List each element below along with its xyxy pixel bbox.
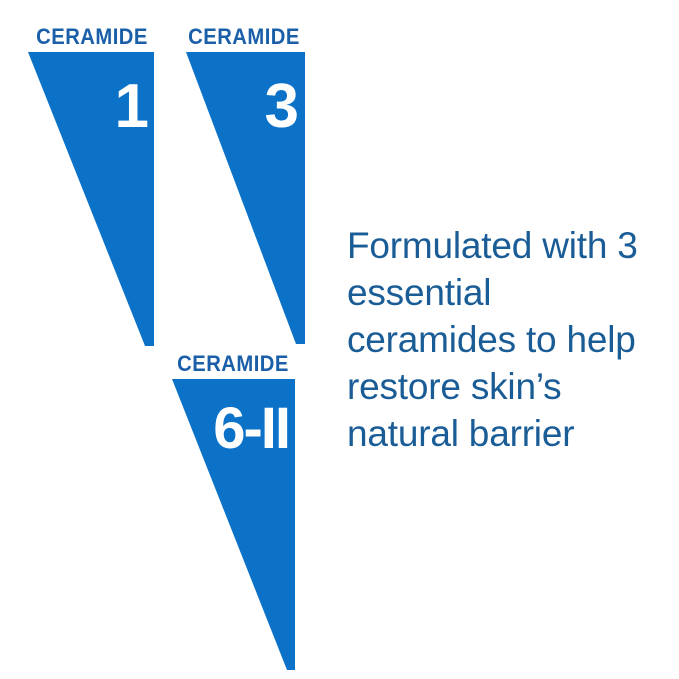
infographic-canvas: CERAMIDE 1 CERAMIDE 3 CERAMIDE 6-II Form…	[0, 0, 679, 679]
ceramide-label-3: CERAMIDE	[173, 353, 293, 375]
ceramide-number-1: 1	[48, 76, 148, 138]
tagline-text: Formulated with 3 essential ceramides to…	[347, 222, 647, 457]
ceramide-number-3: 6-II	[175, 400, 289, 458]
ceramide-number-2: 3	[202, 76, 298, 138]
ceramide-label-1: CERAMIDE	[29, 26, 154, 48]
ceramide-label-2: CERAMIDE	[186, 26, 302, 48]
